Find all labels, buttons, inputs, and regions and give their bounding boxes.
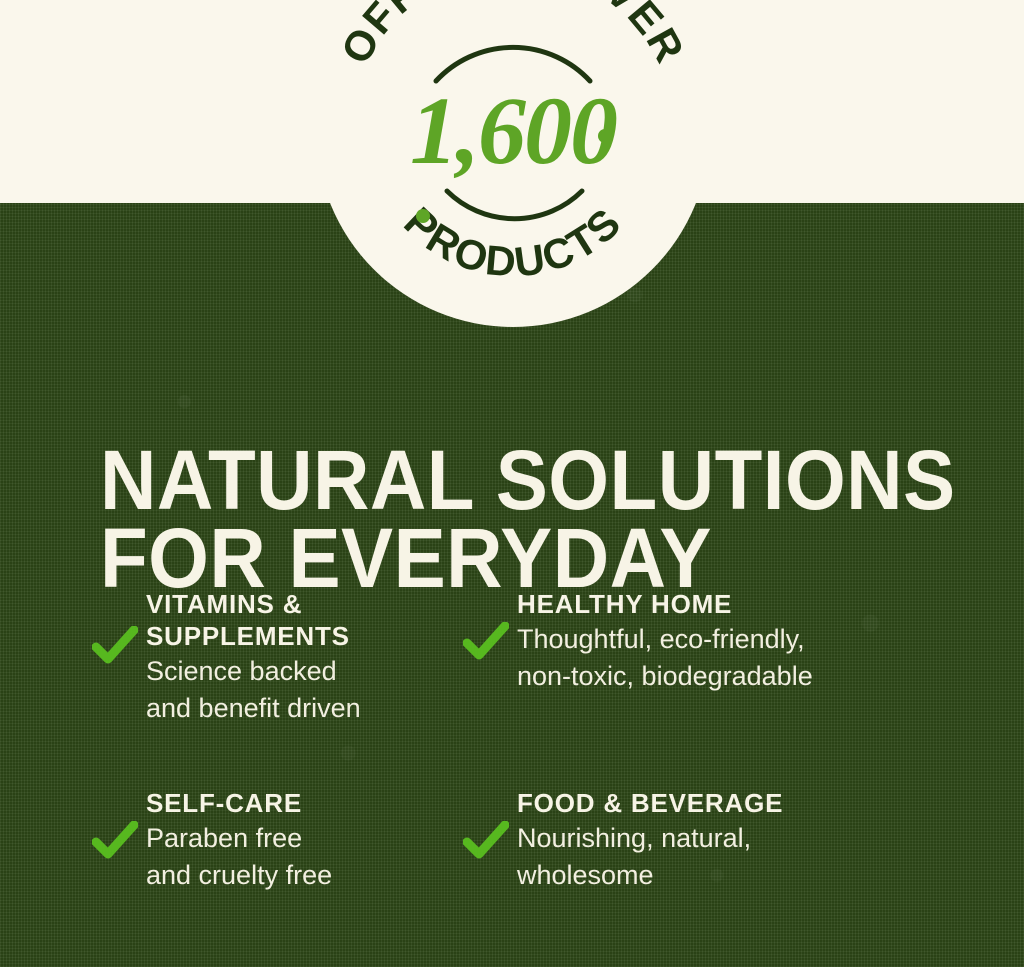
feature-description: Science backed and benefit driven [146,653,455,727]
feature-list: VITAMINS & SUPPLEMENTS Science backed an… [0,588,1024,894]
feature-title: FOOD & BEVERAGE [517,787,924,819]
feature-text-block: SELF-CARE Paraben free and cruelty free [146,787,455,894]
check-icon [463,821,509,861]
feature-self-care: SELF-CARE Paraben free and cruelty free [92,787,455,894]
feature-text-block: FOOD & BEVERAGE Nourishing, natural, who… [517,787,924,894]
headline-line-1: NATURAL SOLUTIONS [100,441,956,519]
separator-dot-right-icon [598,129,612,143]
feature-column-right: FOOD & BEVERAGE Nourishing, natural, who… [455,787,924,894]
separator-dot-left-icon [416,209,430,223]
check-icon-wrapper [463,787,517,861]
feature-row-1: VITAMINS & SUPPLEMENTS Science backed an… [0,588,1024,727]
feature-row-2: SELF-CARE Paraben free and cruelty free … [0,787,1024,894]
feature-column-right: HEALTHY HOME Thoughtful, eco-friendly, n… [455,588,924,727]
check-icon-wrapper [463,588,517,662]
feature-text-block: HEALTHY HOME Thoughtful, eco-friendly, n… [517,588,924,695]
arc-swoosh-top-icon [436,47,590,81]
badge-arc-top-text: OFFERING OVER [332,0,694,71]
check-icon [463,622,509,662]
feature-food-beverage: FOOD & BEVERAGE Nourishing, natural, who… [463,787,924,894]
feature-column-left: SELF-CARE Paraben free and cruelty free [0,787,455,894]
feature-vitamins-supplements: VITAMINS & SUPPLEMENTS Science backed an… [92,588,455,727]
feature-text-block: VITAMINS & SUPPLEMENTS Science backed an… [146,588,455,727]
arc-swoosh-bottom-icon [447,191,582,219]
page-title: NATURAL SOLUTIONS FOR EVERYDAY [100,441,956,597]
feature-title: SELF-CARE [146,787,455,819]
feature-healthy-home: HEALTHY HOME Thoughtful, eco-friendly, n… [463,588,924,695]
feature-title: VITAMINS & SUPPLEMENTS [146,588,455,652]
check-icon [92,821,138,861]
check-icon-wrapper [92,787,146,861]
feature-description: Paraben free and cruelty free [146,820,455,894]
feature-row-spacer [0,727,1024,787]
feature-description: Thoughtful, eco-friendly, non-toxic, bio… [517,621,924,695]
feature-title: HEALTHY HOME [517,588,924,620]
feature-description: Nourishing, natural, wholesome [517,820,924,894]
headline-line-2: FOR EVERYDAY [100,519,956,597]
promotional-banner: OFFERING OVER 1,600 PRODUCTS NATURAL SOL… [0,0,1024,967]
check-icon [92,626,138,666]
feature-column-left: VITAMINS & SUPPLEMENTS Science backed an… [0,588,455,727]
badge-arc-bottom-text: PRODUCTS [395,198,630,286]
offering-over-badge: OFFERING OVER 1,600 PRODUCTS [316,0,710,327]
badge-number: 1,600 [410,77,617,184]
check-icon-wrapper [92,588,146,666]
